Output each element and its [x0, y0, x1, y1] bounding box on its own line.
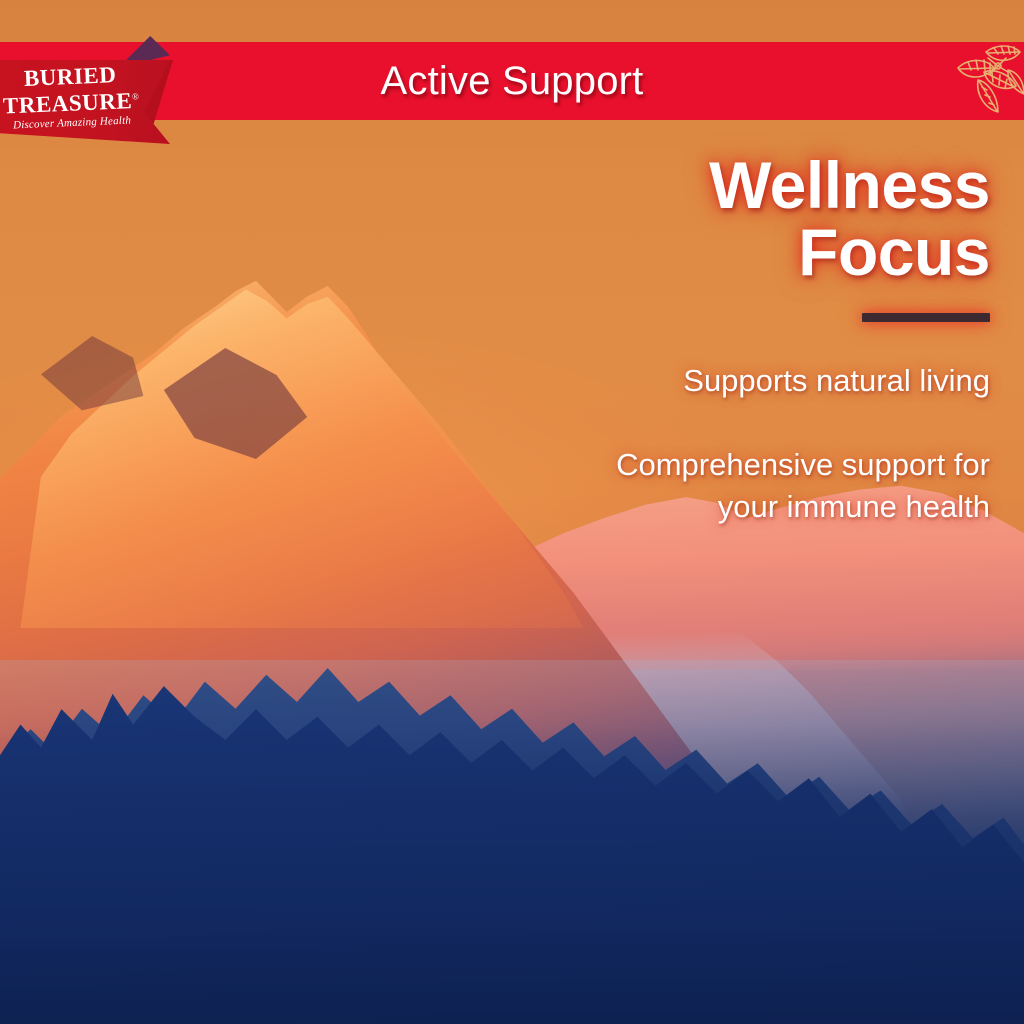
brand-logo[interactable]: BURIED TREASURE® Discover Amazing Health [3, 59, 140, 137]
registered-trademark-icon: ® [132, 91, 140, 101]
benefit-secondary-line-1: Comprehensive support for [490, 444, 990, 486]
benefit-text-primary: Supports natural living [490, 362, 990, 401]
benefit-secondary-line-2: your immune health [490, 486, 990, 528]
title-divider-rule [862, 313, 990, 322]
headline-line-2: Focus [490, 219, 990, 286]
promo-text-block: Wellness Focus Supports natural living C… [490, 152, 990, 528]
headline-line-1: Wellness [490, 152, 990, 219]
benefit-text-secondary: Comprehensive support for your immune he… [490, 444, 990, 528]
promo-banner-canvas: Active Support BURIED TREASURE® Discover… [0, 0, 1024, 1024]
page-title: Wellness Focus [490, 152, 990, 287]
logo-word-treasure-row: TREASURE® [2, 85, 140, 117]
